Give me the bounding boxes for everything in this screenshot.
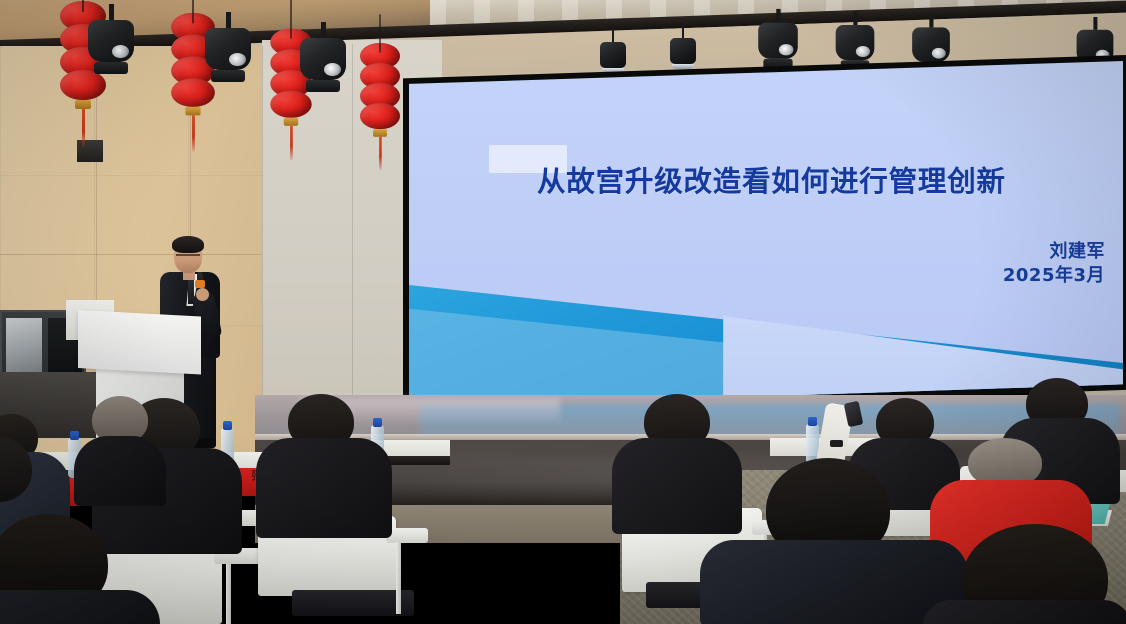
lantern-cap [75,100,91,109]
moving-head-light [300,22,346,92]
lantern-wire [192,0,194,23]
lantern-wire [379,14,381,52]
lantern-tassel [82,109,85,147]
lectern-top [78,310,201,374]
lantern-tassel [379,137,382,170]
chair-leg [396,542,401,614]
chair-leg [226,564,231,624]
bottle-cap [70,431,79,440]
moving-head-light [758,9,798,69]
presentation-slide: 从故宫升级改造看如何进行管理创新 刘建军 2025年3月 [409,61,1123,408]
slide-date: 2025年3月 [1003,261,1105,287]
microphone-tip [195,280,205,288]
wall-seam [352,44,353,454]
lantern-icon [360,103,400,129]
moving-head-light [88,4,134,74]
lantern-cap [284,118,298,126]
chair-armrest [386,528,428,543]
par-can-light [670,24,696,69]
lantern-icon [171,78,215,107]
bottle-cap [808,417,817,426]
moving-head-light [836,12,875,71]
conference-hall-scene: 从故宫升级改造看如何进行管理创新 刘建军 2025年3月 杨志 张刚 [0,0,1126,624]
bottle-cap [223,421,232,430]
lantern-wire [82,0,84,12]
presenter-hair [172,236,204,253]
par-can-light [600,28,626,73]
slide-title: 从故宫升级改造看如何进行管理创新 [537,165,1107,199]
glasses-icon [176,254,200,260]
person-body [256,438,392,538]
person-body [612,438,742,534]
moving-head-light [205,12,251,82]
wristwatch [830,440,843,447]
lantern-cap [373,129,387,137]
bottle-cap [373,418,382,427]
person-body [0,590,160,624]
led-screen[interactable]: 从故宫升级改造看如何进行管理创新 刘建军 2025年3月 [409,61,1123,408]
person-body [74,436,166,506]
lantern-tassel [192,115,195,151]
wall-seam-horizontal [0,254,262,255]
person-body [922,600,1126,624]
lantern-cap [185,107,200,116]
lantern-icon [60,70,106,100]
presenter-hand [196,288,209,301]
lantern-string [360,49,400,170]
lantern-wire [290,0,292,39]
lantern-tassel [290,126,293,160]
slide-author: 刘建军 [1050,237,1106,263]
lantern-icon [270,91,311,118]
